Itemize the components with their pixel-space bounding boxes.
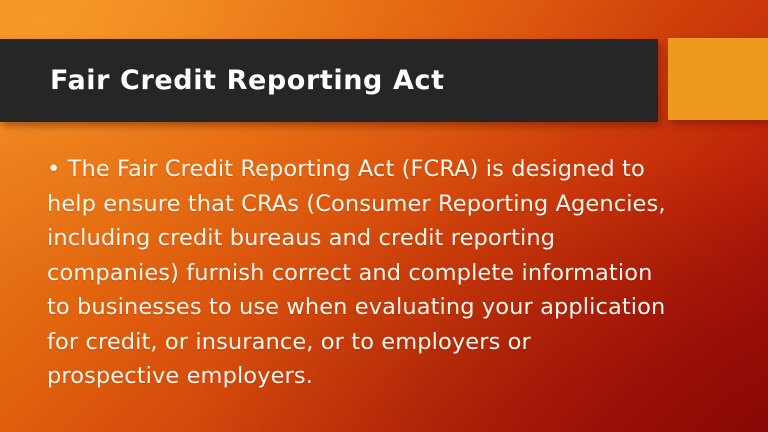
slide-canvas: Fair Credit Reporting Act • The Fair Cre…	[0, 0, 768, 432]
title-bar: Fair Credit Reporting Act	[0, 39, 658, 122]
body-line: to businesses to use when evaluating you…	[47, 290, 707, 325]
body-content: • The Fair Credit Reporting Act (FCRA) i…	[47, 152, 707, 394]
body-line: prospective employers.	[47, 359, 707, 394]
body-line: including credit bureaus and credit repo…	[47, 221, 707, 256]
body-line: for credit, or insurance, or to employer…	[47, 325, 707, 360]
body-line: companies) furnish correct and complete …	[47, 256, 707, 291]
body-line: • The Fair Credit Reporting Act (FCRA) i…	[47, 152, 707, 187]
page-title: Fair Credit Reporting Act	[0, 65, 445, 96]
body-line: help ensure that CRAs (Consumer Reportin…	[47, 187, 707, 222]
title-accent-block	[668, 38, 768, 120]
